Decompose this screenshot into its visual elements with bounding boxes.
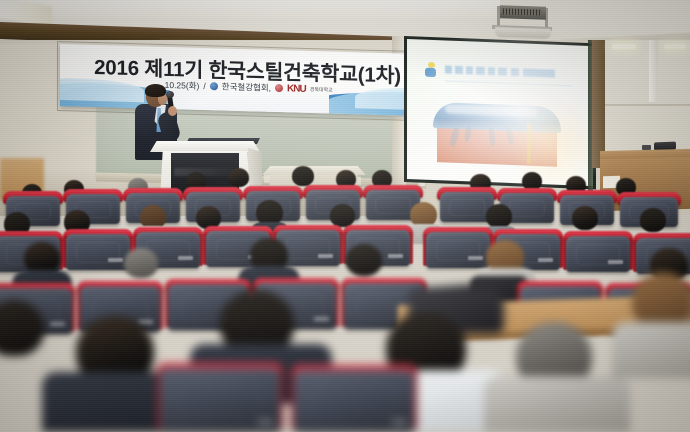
projection-screen (407, 39, 593, 186)
slide-warm-glow (503, 89, 593, 186)
lectern-top (150, 141, 260, 152)
audience-head (124, 248, 158, 278)
audience-head (292, 166, 314, 186)
audience-head (346, 244, 382, 276)
ceiling-light-right-1 (612, 44, 636, 49)
presenter-hair (145, 84, 166, 97)
control-area-wall-line (600, 104, 690, 106)
seat (294, 370, 414, 432)
presenter-hand (168, 106, 177, 116)
audience-head (572, 206, 598, 230)
audience-head (640, 208, 666, 232)
slide-divider (445, 80, 573, 86)
seat (426, 232, 490, 268)
seat (160, 368, 280, 432)
ceiling-light-right-2 (664, 44, 686, 49)
projector-lens-housing (495, 27, 551, 39)
audience-shoulders (612, 322, 690, 378)
seat (66, 234, 130, 270)
slide-title-text (445, 65, 555, 77)
seat (566, 236, 630, 272)
audience-head (228, 168, 249, 187)
lecture-hall-photo: 2016 제11기 한국스틸건축학교(1차) .10.25(화) / 한국철강협… (0, 0, 690, 432)
audience-head (486, 204, 512, 228)
banner-frame (57, 41, 442, 122)
projector-vent (503, 8, 541, 15)
slide-logo-icon (425, 62, 438, 77)
audience-head (330, 204, 355, 227)
control-area-column (592, 40, 605, 168)
audience-shoulders (484, 376, 630, 432)
microphone-head (166, 91, 174, 98)
control-area-column-light (649, 40, 658, 102)
control-area-wall (596, 40, 690, 158)
